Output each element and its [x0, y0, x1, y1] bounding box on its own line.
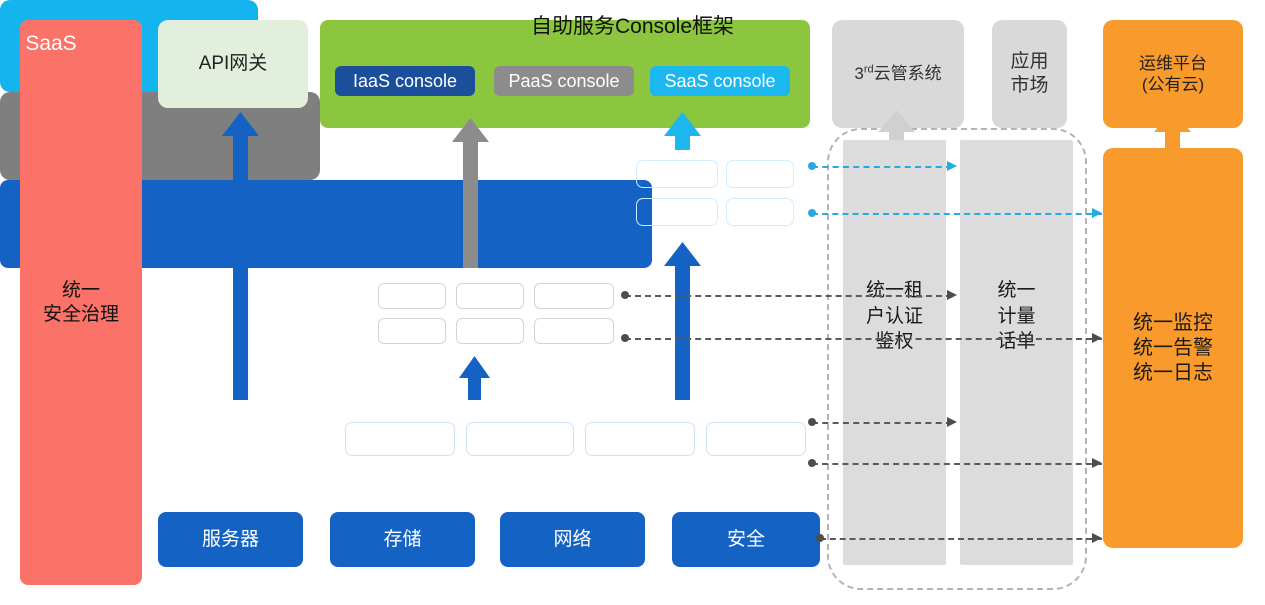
saas-connector-dot-2	[808, 209, 816, 217]
architecture-diagram: 统一 安全治理 API网关 自助服务Console框架 IaaS console…	[0, 0, 1265, 605]
paas-connector-dot-2	[621, 334, 629, 342]
paas-label: PaaS	[312, 302, 384, 326]
saas-chip-desktop-cloud[interactable]: 桌面云	[726, 198, 794, 226]
saas-to-ops-dashed-line	[812, 213, 1102, 215]
ops-platform-monitoring-panel[interactable]: 统一监控 统一告警 统一日志	[1103, 148, 1243, 548]
iaas-connector-arrowhead-2	[1092, 458, 1102, 468]
paas-connector-dot-1	[621, 291, 629, 299]
console-framework-title: 自助服务Console框架	[0, 10, 1265, 40]
iaas-chip-network[interactable]: Network	[585, 422, 695, 456]
paas-console-chip[interactable]: PaaS console	[494, 66, 634, 96]
hardware-connector-arrowhead	[1092, 533, 1102, 543]
ops-platform-public-cloud-box[interactable]: 运维平台 (公有云)	[1103, 20, 1243, 128]
iaas-connector-dot-1	[808, 418, 816, 426]
iaas-connector-arrowhead-1	[947, 417, 957, 427]
saas-chip-iot[interactable]: IoT	[726, 160, 794, 188]
paas-to-metering-dashed-line	[625, 295, 952, 297]
hardware-connector-dot	[816, 534, 824, 542]
iaas-connector-dot-2	[808, 459, 816, 467]
iaas-to-ops-dashed-line	[812, 463, 1102, 465]
paas-connector-arrowhead-2	[1092, 333, 1102, 343]
unified-security-governance-panel[interactable]: 统一 安全治理	[20, 20, 142, 585]
iaas-to-metering-dashed-line	[812, 422, 952, 424]
iaas-chip-compute[interactable]: Compute	[345, 422, 455, 456]
saas-connector-arrowhead-1	[947, 161, 957, 171]
unified-tenant-auth-label: 统一租 户认证 鉴权	[843, 278, 946, 355]
paas-chip-cache[interactable]: 缓存	[456, 318, 524, 344]
unified-metering-label: 统一 计量 话单	[960, 278, 1073, 355]
hardware-network-box[interactable]: 网络	[500, 512, 645, 567]
paas-connector-arrowhead-1	[947, 290, 957, 300]
saas-label: SaaS	[12, 32, 90, 56]
hardware-security-box[interactable]: 安全	[672, 512, 820, 567]
paas-to-ops-dashed-line	[625, 338, 1102, 340]
saas-chip-video-cloud[interactable]: 视频云	[636, 198, 718, 226]
paas-chip-bigdata[interactable]: 大数据	[534, 318, 614, 344]
saas-connector-arrowhead-2	[1092, 208, 1102, 218]
paas-chip-roma[interactable]: ROMA	[378, 283, 446, 309]
saas-to-metering-dashed-line	[812, 166, 952, 168]
iaas-console-chip[interactable]: IaaS console	[335, 66, 475, 96]
saas-connector-dot-1	[808, 162, 816, 170]
unified-infrastructure-service-label: 统一基础设施服务	[168, 427, 338, 454]
hardware-to-ops-dashed-line	[820, 538, 1102, 540]
paas-chip-modelarts[interactable]: ModelArts	[534, 283, 614, 309]
iaas-to-saas-arrow	[664, 242, 701, 400]
paas-chip-dgc[interactable]: DGC	[456, 283, 524, 309]
saas-chip-blockchain[interactable]: 区块链	[636, 160, 718, 188]
saas-console-chip[interactable]: SaaS console	[650, 66, 790, 96]
iaas-chip-cce[interactable]: CCE	[706, 422, 806, 456]
third-party-label: 3rd云管系统	[854, 63, 941, 84]
hardware-storage-box[interactable]: 存储	[330, 512, 475, 567]
iaas-chip-storage[interactable]: Storage	[466, 422, 574, 456]
hardware-server-box[interactable]: 服务器	[158, 512, 303, 567]
third-party-cloud-management-box[interactable]: 3rd云管系统	[832, 20, 964, 128]
paas-chip-database[interactable]: 数据库	[378, 318, 446, 344]
iaas-to-paas-arrow	[459, 356, 490, 400]
app-market-box[interactable]: 应用 市场	[992, 20, 1067, 128]
